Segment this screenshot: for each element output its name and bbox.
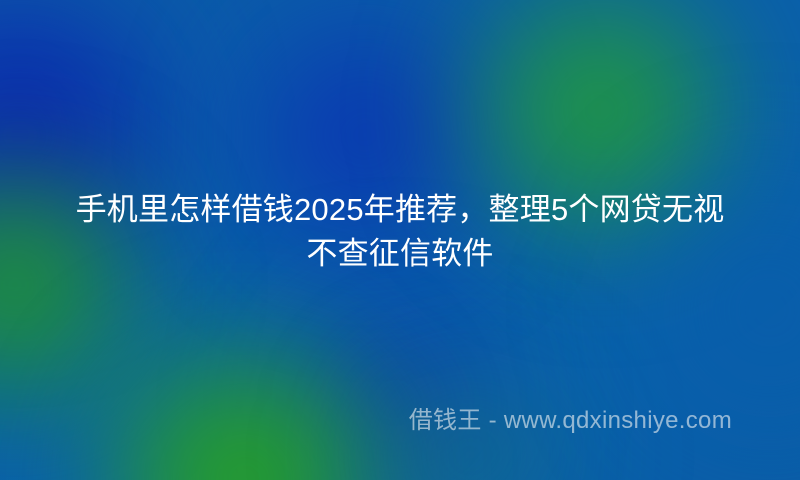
site-watermark: 借钱王 - www.qdxinshiye.com	[409, 406, 732, 436]
promo-banner: 手机里怎样借钱2025年推荐，整理5个网贷无视 不查征信软件 借钱王 - www…	[0, 0, 800, 480]
banner-headline: 手机里怎样借钱2025年推荐，整理5个网贷无视 不查征信软件	[50, 188, 750, 276]
